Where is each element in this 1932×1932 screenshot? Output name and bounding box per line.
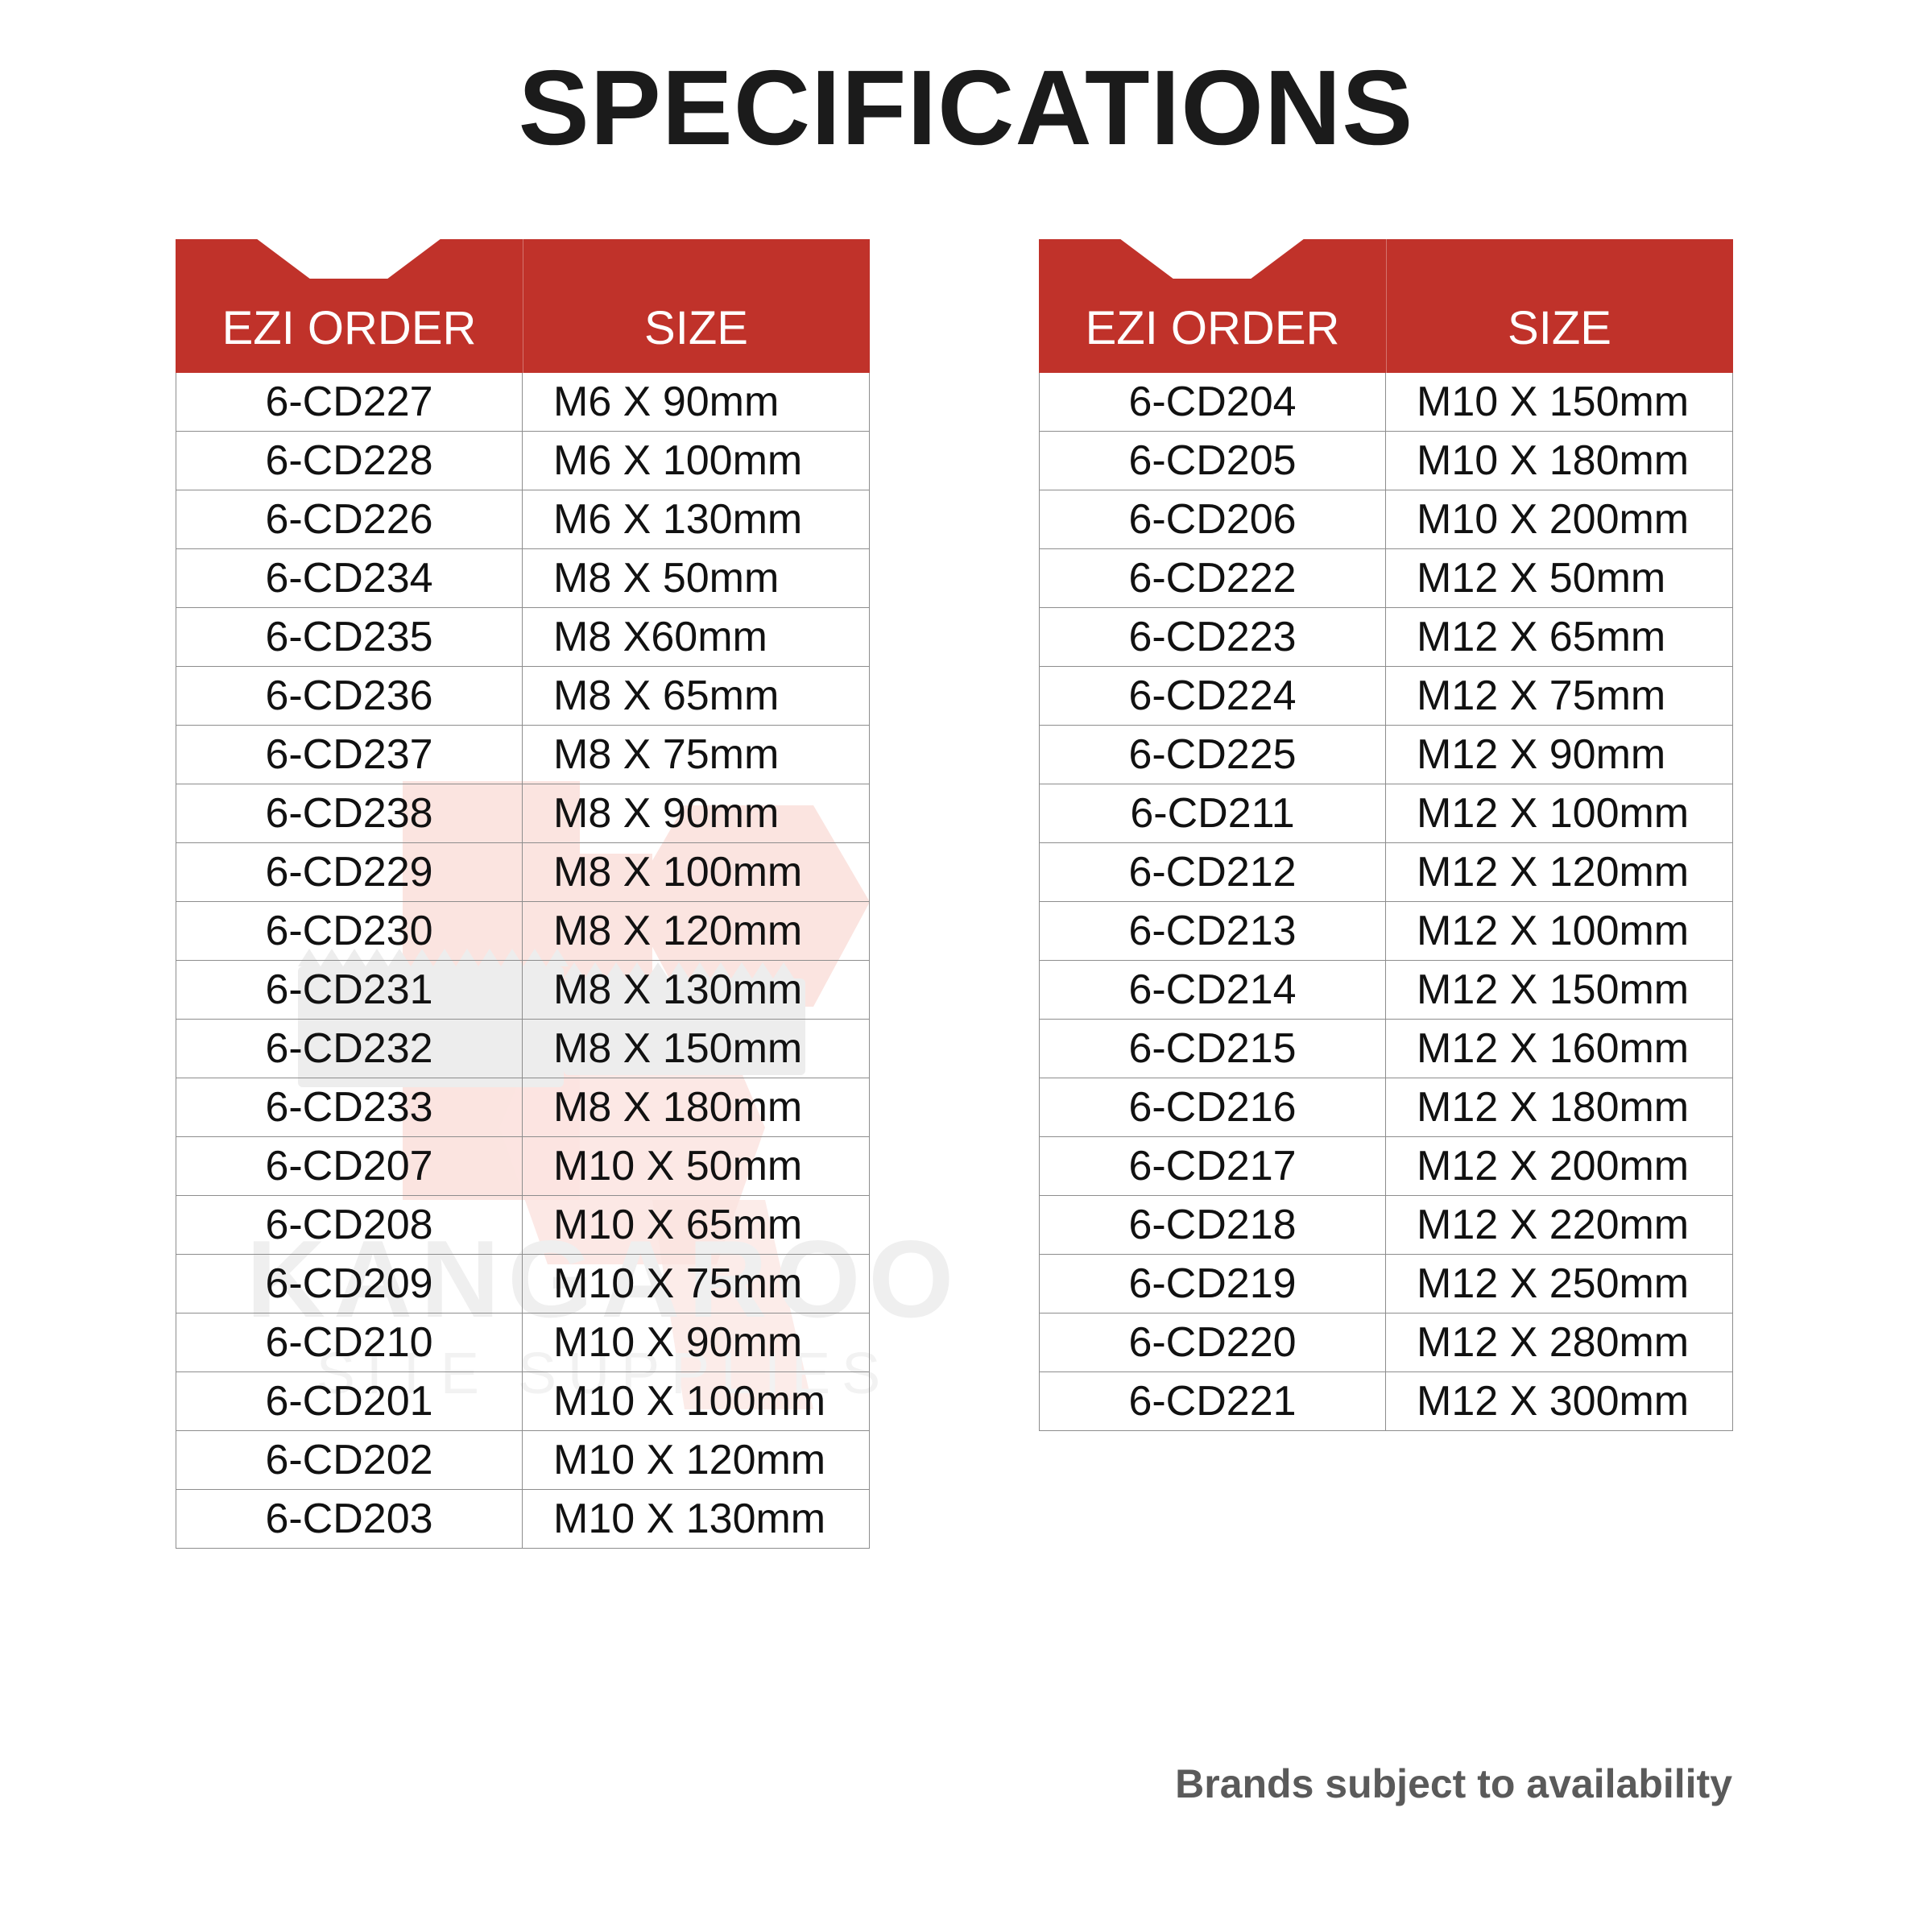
table-row: 6-CD204M10 X 150mm xyxy=(1039,373,1733,432)
table-row: 6-CD231M8 X 130mm xyxy=(176,961,870,1020)
cell-size: M6 X 90mm xyxy=(523,373,869,431)
table-row: 6-CD229M8 X 100mm xyxy=(176,843,870,902)
cell-ezi-order: 6-CD223 xyxy=(1040,608,1386,666)
cell-size: M12 X 90mm xyxy=(1386,726,1732,784)
table-row: 6-CD209M10 X 75mm xyxy=(176,1255,870,1314)
cell-ezi-order: 6-CD208 xyxy=(176,1196,523,1254)
table-row: 6-CD238M8 X 90mm xyxy=(176,784,870,843)
cell-size: M10 X 180mm xyxy=(1386,432,1732,490)
table-row: 6-CD227M6 X 90mm xyxy=(176,373,870,432)
cell-size: M10 X 120mm xyxy=(523,1431,869,1489)
cell-ezi-order: 6-CD225 xyxy=(1040,726,1386,784)
table-row: 6-CD206M10 X 200mm xyxy=(1039,490,1733,549)
cell-size: M8 X 65mm xyxy=(523,667,869,725)
cell-ezi-order: 6-CD210 xyxy=(176,1314,523,1371)
cell-size: M8 X 100mm xyxy=(523,843,869,901)
table-row: 6-CD201M10 X 100mm xyxy=(176,1372,870,1431)
table-row: 6-CD213M12 X 100mm xyxy=(1039,902,1733,961)
cell-size: M10 X 150mm xyxy=(1386,373,1732,431)
cell-ezi-order: 6-CD234 xyxy=(176,549,523,607)
cell-ezi-order: 6-CD207 xyxy=(176,1137,523,1195)
cell-ezi-order: 6-CD217 xyxy=(1040,1137,1386,1195)
table-row: 6-CD220M12 X 280mm xyxy=(1039,1314,1733,1372)
cell-ezi-order: 6-CD235 xyxy=(176,608,523,666)
table-row: 6-CD226M6 X 130mm xyxy=(176,490,870,549)
table-row: 6-CD202M10 X 120mm xyxy=(176,1431,870,1490)
table-row: 6-CD224M12 X 75mm xyxy=(1039,667,1733,726)
table-row: 6-CD225M12 X 90mm xyxy=(1039,726,1733,784)
cell-size: M12 X 300mm xyxy=(1386,1372,1732,1430)
cell-size: M12 X 200mm xyxy=(1386,1137,1732,1195)
column-header-ezi-order-right: EZI ORDER xyxy=(1039,305,1386,373)
spec-table-right: EZI ORDER SIZE 6-CD204M10 X 150mm6-CD205… xyxy=(1039,239,1733,1431)
cell-ezi-order: 6-CD238 xyxy=(176,784,523,842)
cell-ezi-order: 6-CD204 xyxy=(1040,373,1386,431)
cell-size: M10 X 90mm xyxy=(523,1314,869,1371)
cell-size: M6 X 130mm xyxy=(523,490,869,548)
cell-size: M10 X 100mm xyxy=(523,1372,869,1430)
cell-ezi-order: 6-CD231 xyxy=(176,961,523,1019)
header-column-divider-right xyxy=(1386,239,1387,373)
table-row: 6-CD228M6 X 100mm xyxy=(176,432,870,490)
cell-size: M10 X 130mm xyxy=(523,1490,869,1548)
column-header-size-right: SIZE xyxy=(1386,305,1733,373)
table-row: 6-CD218M12 X 220mm xyxy=(1039,1196,1733,1255)
cell-size: M12 X 50mm xyxy=(1386,549,1732,607)
table-header-left: EZI ORDER SIZE xyxy=(176,239,870,373)
table-row: 6-CD232M8 X 150mm xyxy=(176,1020,870,1078)
cell-size: M12 X 65mm xyxy=(1386,608,1732,666)
cell-size: M8 X 50mm xyxy=(523,549,869,607)
table-row: 6-CD212M12 X 120mm xyxy=(1039,843,1733,902)
cell-ezi-order: 6-CD211 xyxy=(1040,784,1386,842)
table-row: 6-CD221M12 X 300mm xyxy=(1039,1372,1733,1431)
table-row: 6-CD203M10 X 130mm xyxy=(176,1490,870,1549)
cell-ezi-order: 6-CD224 xyxy=(1040,667,1386,725)
table-row: 6-CD214M12 X 150mm xyxy=(1039,961,1733,1020)
cell-ezi-order: 6-CD218 xyxy=(1040,1196,1386,1254)
cell-ezi-order: 6-CD216 xyxy=(1040,1078,1386,1136)
table-row: 6-CD219M12 X 250mm xyxy=(1039,1255,1733,1314)
table-row: 6-CD234M8 X 50mm xyxy=(176,549,870,608)
table-row: 6-CD217M12 X 200mm xyxy=(1039,1137,1733,1196)
table-row: 6-CD223M12 X 65mm xyxy=(1039,608,1733,667)
header-notch-right xyxy=(1119,238,1305,279)
table-row: 6-CD236M8 X 65mm xyxy=(176,667,870,726)
cell-size: M8 X 120mm xyxy=(523,902,869,960)
table-body-left: 6-CD227M6 X 90mm6-CD228M6 X 100mm6-CD226… xyxy=(176,373,870,1549)
cell-ezi-order: 6-CD221 xyxy=(1040,1372,1386,1430)
cell-size: M8 X 75mm xyxy=(523,726,869,784)
cell-size: M12 X 220mm xyxy=(1386,1196,1732,1254)
cell-size: M10 X 75mm xyxy=(523,1255,869,1313)
cell-ezi-order: 6-CD233 xyxy=(176,1078,523,1136)
cell-ezi-order: 6-CD227 xyxy=(176,373,523,431)
footer-availability-note: Brands subject to availability xyxy=(1175,1764,1732,1804)
cell-size: M12 X 75mm xyxy=(1386,667,1732,725)
cell-size: M8 X 150mm xyxy=(523,1020,869,1078)
cell-size: M6 X 100mm xyxy=(523,432,869,490)
cell-ezi-order: 6-CD201 xyxy=(176,1372,523,1430)
cell-size: M12 X 100mm xyxy=(1386,902,1732,960)
cell-size: M12 X 150mm xyxy=(1386,961,1732,1019)
table-row: 6-CD211M12 X 100mm xyxy=(1039,784,1733,843)
cell-ezi-order: 6-CD202 xyxy=(176,1431,523,1489)
column-header-ezi-order-left: EZI ORDER xyxy=(176,305,523,373)
cell-ezi-order: 6-CD219 xyxy=(1040,1255,1386,1313)
cell-size: M10 X 200mm xyxy=(1386,490,1732,548)
cell-size: M12 X 180mm xyxy=(1386,1078,1732,1136)
table-row: 6-CD230M8 X 120mm xyxy=(176,902,870,961)
header-column-divider-left xyxy=(523,239,523,373)
cell-size: M8 X 90mm xyxy=(523,784,869,842)
cell-ezi-order: 6-CD236 xyxy=(176,667,523,725)
column-header-size-left: SIZE xyxy=(523,305,870,373)
cell-ezi-order: 6-CD215 xyxy=(1040,1020,1386,1078)
cell-ezi-order: 6-CD232 xyxy=(176,1020,523,1078)
cell-ezi-order: 6-CD237 xyxy=(176,726,523,784)
cell-ezi-order: 6-CD209 xyxy=(176,1255,523,1313)
cell-ezi-order: 6-CD229 xyxy=(176,843,523,901)
table-row: 6-CD216M12 X 180mm xyxy=(1039,1078,1733,1137)
table-row: 6-CD215M12 X 160mm xyxy=(1039,1020,1733,1078)
header-notch-left xyxy=(256,238,441,279)
cell-ezi-order: 6-CD213 xyxy=(1040,902,1386,960)
cell-size: M8 X 180mm xyxy=(523,1078,869,1136)
cell-size: M12 X 250mm xyxy=(1386,1255,1732,1313)
cell-ezi-order: 6-CD220 xyxy=(1040,1314,1386,1371)
page-title: SPECIFICATIONS xyxy=(0,55,1932,161)
cell-ezi-order: 6-CD212 xyxy=(1040,843,1386,901)
table-body-right: 6-CD204M10 X 150mm6-CD205M10 X 180mm6-CD… xyxy=(1039,373,1733,1431)
cell-size: M12 X 100mm xyxy=(1386,784,1732,842)
cell-size: M12 X 120mm xyxy=(1386,843,1732,901)
cell-size: M8 X 130mm xyxy=(523,961,869,1019)
specifications-sheet: KANGAROO SITE SUPPLIES SPECIFICATIONS EZ… xyxy=(0,0,1932,1932)
cell-size: M10 X 50mm xyxy=(523,1137,869,1195)
table-row: 6-CD235M8 X60mm xyxy=(176,608,870,667)
cell-size: M12 X 160mm xyxy=(1386,1020,1732,1078)
cell-ezi-order: 6-CD205 xyxy=(1040,432,1386,490)
table-row: 6-CD207M10 X 50mm xyxy=(176,1137,870,1196)
cell-size: M10 X 65mm xyxy=(523,1196,869,1254)
table-row: 6-CD233M8 X 180mm xyxy=(176,1078,870,1137)
spec-table-left: EZI ORDER SIZE 6-CD227M6 X 90mm6-CD228M6… xyxy=(176,239,870,1549)
cell-ezi-order: 6-CD226 xyxy=(176,490,523,548)
table-header-right: EZI ORDER SIZE xyxy=(1039,239,1733,373)
cell-ezi-order: 6-CD228 xyxy=(176,432,523,490)
table-row: 6-CD237M8 X 75mm xyxy=(176,726,870,784)
cell-size: M12 X 280mm xyxy=(1386,1314,1732,1371)
table-row: 6-CD210M10 X 90mm xyxy=(176,1314,870,1372)
table-row: 6-CD208M10 X 65mm xyxy=(176,1196,870,1255)
cell-ezi-order: 6-CD230 xyxy=(176,902,523,960)
cell-ezi-order: 6-CD203 xyxy=(176,1490,523,1548)
table-row: 6-CD222M12 X 50mm xyxy=(1039,549,1733,608)
cell-size: M8 X60mm xyxy=(523,608,869,666)
table-row: 6-CD205M10 X 180mm xyxy=(1039,432,1733,490)
cell-ezi-order: 6-CD214 xyxy=(1040,961,1386,1019)
cell-ezi-order: 6-CD206 xyxy=(1040,490,1386,548)
cell-ezi-order: 6-CD222 xyxy=(1040,549,1386,607)
